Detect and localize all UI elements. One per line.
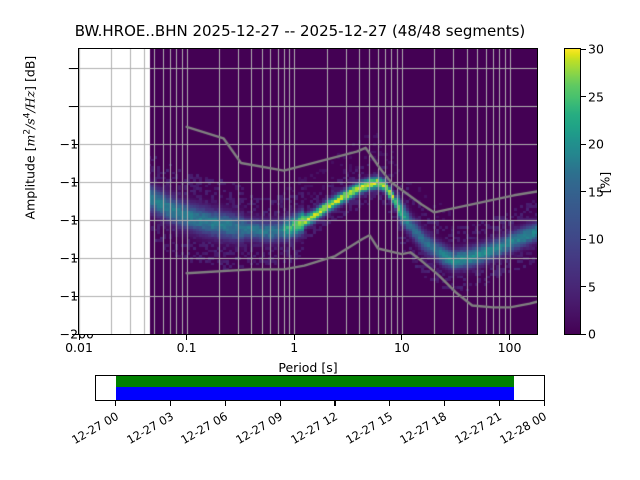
coverage-timeline[interactable] [95,375,545,401]
coverage-tick-mark [280,401,281,406]
page-title: BW.HROE..BHN 2025-12-27 -- 2025-12-27 (4… [0,22,600,40]
data-availability-bar [116,387,514,400]
colorbar-tick-mark [581,49,586,50]
colorbar-tick-mark [581,334,586,335]
x-axis-tick-label: 1 [290,340,298,355]
ppsd-plot-area[interactable] [78,48,538,335]
colorbar-tick-label: 30 [588,42,604,57]
colorbar-tick-mark [581,96,586,97]
x-axis-tick-label: 10 [394,340,410,355]
x-axis-tick-label: 100 [498,340,522,355]
psd-segment-coverage-bar [116,376,514,387]
coverage-tick-mark [444,401,445,406]
x-axis-tick-label: 0.1 [177,340,197,355]
x-axis-tick-mark [294,335,295,340]
coverage-tick-mark [115,401,116,406]
colorbar-tick-mark [581,144,586,145]
x-axis-tick-mark [79,335,80,340]
x-axis-tick-mark [186,335,187,340]
coverage-tick-mark [499,401,500,406]
x-axis-tick-label: 0.01 [65,340,93,355]
coverage-tick-mark [334,401,335,406]
x-axis-label: Period [s] [78,360,538,375]
coverage-tick-mark [170,401,171,406]
colorbar-tick-label: 5 [588,279,596,294]
colorbar-label: [%] [598,123,613,243]
colorbar-tick-mark [581,239,586,240]
x-axis-tick-mark [509,335,510,340]
colorbar [564,48,581,335]
colorbar-tick-label: 25 [588,89,604,104]
colorbar-tick-mark [581,286,586,287]
ppsd-density-canvas [79,49,537,334]
colorbar-tick-mark [581,191,586,192]
coverage-tick-mark [225,401,226,406]
coverage-tick-mark [544,401,545,406]
x-axis-tick-mark [401,335,402,340]
colorbar-tick-label: 0 [588,327,596,342]
y-axis-label: Amplitude [m2/s4/Hz] [dB] [22,0,37,288]
coverage-tick-mark [389,401,390,406]
